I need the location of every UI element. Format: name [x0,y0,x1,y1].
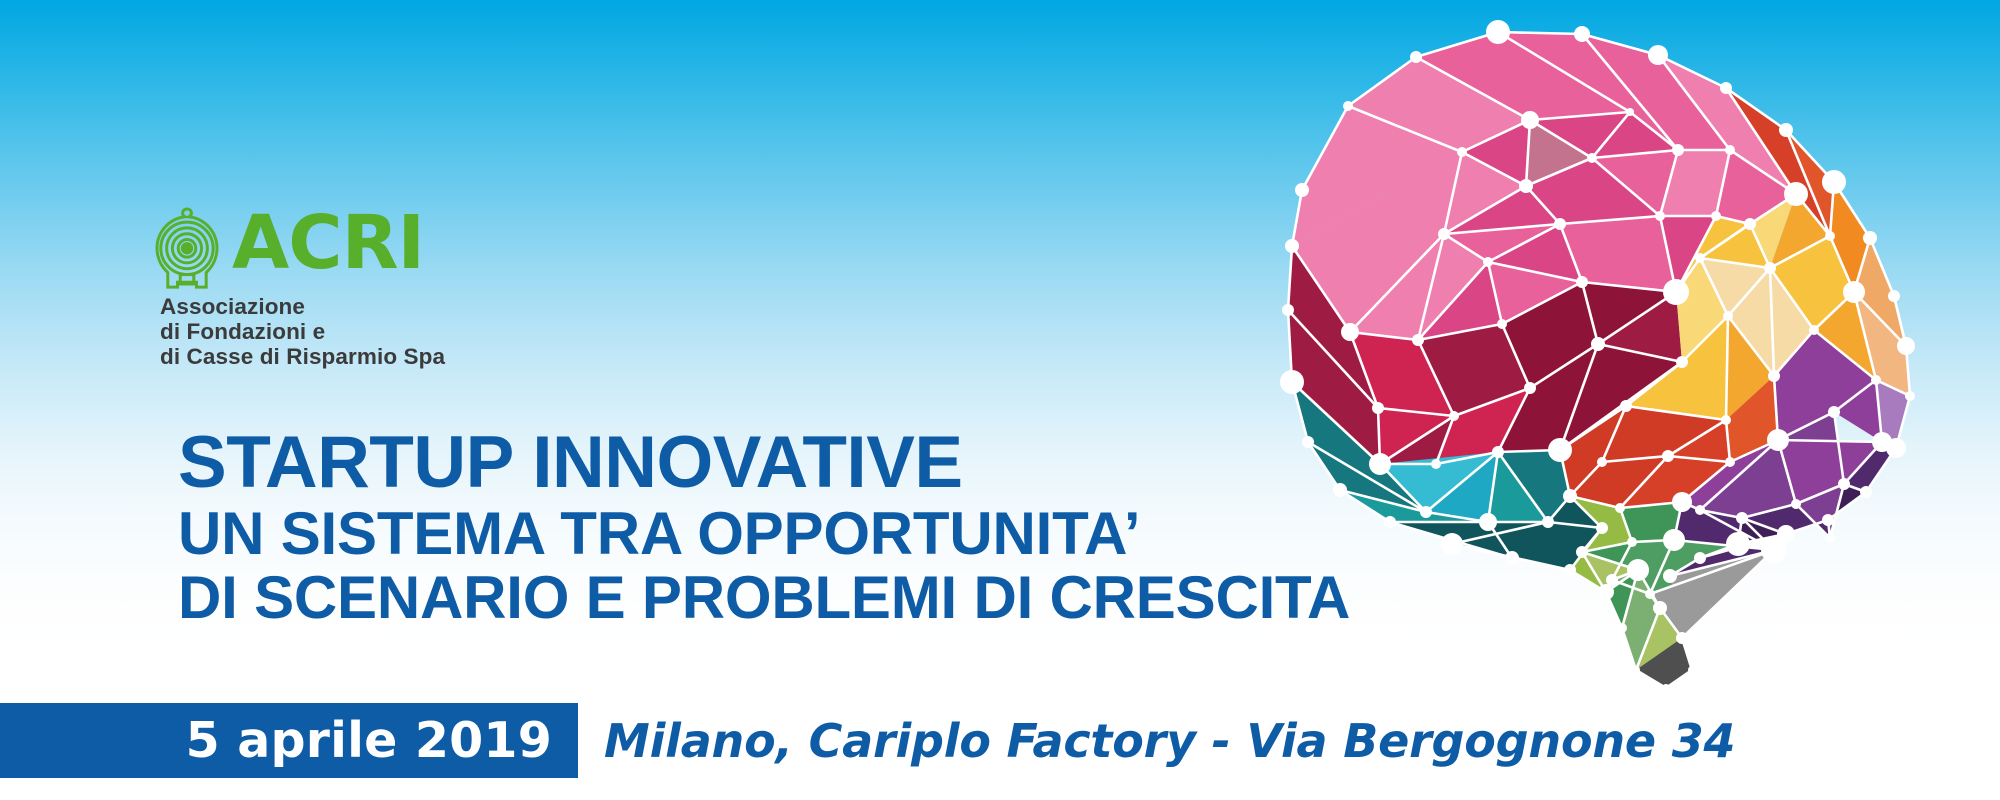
brain-edge [1452,544,1512,558]
brain-edge [1660,216,1676,292]
brain-node [1886,438,1906,458]
brain-node [1688,666,1696,674]
brain-face [1560,216,1676,292]
brain-edge [1560,344,1598,450]
brain-edge [1786,130,1830,236]
acri-concentric-rings-icon [148,200,226,298]
brain-face [1598,292,1682,362]
brain-edge [1700,544,1738,558]
brain-edge [1560,450,1570,496]
brain-edge [1348,106,1462,152]
brain-edge [1682,550,1774,638]
brain-face [1292,152,1462,332]
brain-face [1462,120,1530,186]
brain-face [1726,316,1774,420]
brain-node [1384,516,1396,528]
brain-edge [1670,558,1700,576]
brain-edge [1876,380,1910,396]
brain-edge [1742,518,1786,534]
brain-node [1591,337,1605,351]
brain-node [1764,262,1776,274]
brain-face [1622,570,1660,670]
brain-edge [1650,540,1674,594]
brain-node [1620,400,1632,412]
brain-node [1341,323,1359,341]
brain-edge [1896,396,1910,448]
brain-face [1452,496,1602,570]
brain-face [1436,388,1530,464]
brain-node [1822,170,1846,194]
brain-node [1519,179,1533,193]
brain-edge [1488,262,1582,282]
brain-face [1666,638,1692,688]
brain-face [1674,502,1774,550]
brain-face [1288,246,1378,408]
brain-node [1860,486,1872,498]
brain-face [1814,292,1876,380]
brain-face [1854,238,1906,346]
brain-node [1721,415,1731,425]
brain-edge [1650,550,1774,594]
brain-edge [1778,412,1834,440]
brain-edge [1658,55,1726,88]
brain-node [1663,569,1677,583]
brain-face [1350,332,1454,416]
brain-edge [1350,234,1444,332]
brain-node [1606,574,1618,586]
brain-edge [1796,504,1830,538]
brain-node [1863,231,1877,245]
brain-face [1620,502,1682,542]
brain-node [1598,584,1614,600]
brain-edge [1834,380,1876,412]
brain-edge [1530,344,1598,388]
brain-face [1560,406,1626,496]
brain-node [1779,123,1793,137]
brain-face [1844,442,1896,492]
brain-face [1602,406,1726,462]
brain-face [1636,638,1692,688]
brain-node [1441,533,1463,555]
brain-face [1502,282,1598,388]
brain-edge [1582,282,1598,344]
brain-edge [1682,462,1730,502]
brain-edge [1676,216,1716,292]
brain-face [1452,522,1548,558]
brain-face [1726,88,1830,236]
brain-edge [1530,112,1630,120]
brain-edge [1302,106,1348,190]
brain-edge [1292,190,1302,246]
brain-face [1348,57,1530,152]
brain-edge [1582,34,1678,150]
brain-face [1650,550,1774,638]
brain-node [1343,101,1353,111]
brain-edge [1834,412,1844,484]
brain-node [1809,325,1819,335]
brain-node [1761,537,1787,563]
brain-edge [1630,112,1678,150]
brain-edge [1444,186,1526,234]
brain-edge [1834,182,1870,238]
brain-edge [1612,570,1638,580]
brain-node [1695,253,1705,263]
brain-edge [1502,324,1530,388]
brain-node [1282,304,1294,316]
brain-node [1420,506,1432,518]
brain-face [1770,236,1854,330]
brain-face [1786,130,1834,236]
brain-face [1854,292,1910,396]
brain-edge [1498,32,1630,112]
brain-face [1570,528,1606,592]
brain-edge [1728,268,1770,316]
brain-face [1750,194,1796,268]
brain-node [1521,111,1539,129]
brain-edge [1828,492,1866,520]
brain-node [1483,257,1493,267]
brain-edge [1462,152,1526,186]
brain-node [1905,391,1915,401]
brain-edge [1592,150,1678,158]
brain-edge [1730,440,1778,462]
brain-node [1843,281,1865,303]
event-title-line-2: UN SISTEMA TRA OPPORTUNITA’ [178,503,1350,565]
brain-edge [1620,502,1682,508]
brain-edge [1416,32,1498,57]
brain-edge [1582,34,1658,55]
brain-edge [1444,224,1560,234]
brain-edge [1612,542,1632,580]
brain-edge [1854,292,1906,346]
brain-edge [1668,456,1730,462]
brain-edge [1830,236,1854,292]
brain-edge [1416,57,1530,120]
brain-edge [1676,258,1700,292]
brain-edge [1636,670,1666,688]
brain-face [1418,262,1502,340]
brain-node [1663,279,1689,305]
brain-face [1612,540,1674,594]
event-date: 5 aprile 2019 [186,715,552,767]
brain-face [1498,344,1598,452]
brain-node [1888,290,1900,302]
brain-face [1728,268,1814,376]
brain-edge [1636,608,1660,670]
brain-node [1576,276,1588,288]
brain-edge [1674,540,1774,550]
brain-edge [1700,224,1750,258]
brain-face [1380,452,1498,512]
brain-node [1587,153,1597,163]
brain-edge [1700,534,1786,558]
brain-face [1582,282,1676,344]
brain-face [1834,380,1882,442]
brain-edge [1598,344,1682,362]
brain-edge [1380,464,1426,512]
brain-node [1725,145,1735,155]
brain-edge [1390,522,1512,558]
brain-edge [1418,340,1454,416]
brain-node [1574,26,1590,42]
brain-edge [1726,420,1730,462]
acri-subtitle-line-2: di Fondazioni e [160,319,568,344]
brain-edge [1738,518,1742,544]
brain-edge [1682,638,1692,670]
brain-edge [1778,440,1796,504]
brain-face [1582,34,1730,150]
brain-edge [1774,330,1814,376]
brain-edge [1626,362,1682,406]
brain-node [1648,45,1668,65]
brain-node [1645,589,1655,599]
brain-node [1542,516,1554,528]
brain-edge [1814,330,1876,380]
brain-node [1412,334,1424,346]
brain-face [1592,150,1678,216]
brain-edge [1620,508,1632,542]
brain-node [1871,375,1881,385]
brain-edge [1844,484,1866,492]
brain-node [1457,147,1467,157]
brain-edge [1830,484,1844,538]
brain-face [1444,224,1560,262]
brain-face [1526,158,1660,224]
brain-face [1426,452,1498,522]
brain-face [1350,234,1488,340]
acri-wordmark: ACRI [232,206,424,280]
brain-node [1431,459,1441,469]
brain-edge [1378,408,1454,416]
brain-face [1606,570,1638,628]
brain-edge [1666,670,1692,688]
brain-edge [1786,130,1834,182]
brain-node [1897,337,1915,355]
brain-edge [1498,388,1530,452]
brain-node [1615,503,1625,513]
brain-node [1627,537,1637,547]
brain-node [1372,402,1384,414]
brain-face [1796,484,1844,538]
brain-face [1592,112,1678,158]
brain-node [1627,559,1649,581]
acri-logo-top-row: ACRI [148,200,568,292]
brain-face [1660,216,1716,292]
brain-edge [1738,544,1774,550]
brain-face [1582,528,1606,592]
brain-edge [1548,496,1570,522]
brain-edge [1632,540,1674,542]
brain-node [1825,533,1835,543]
brain-edge [1380,416,1454,464]
brain-edge [1876,380,1882,442]
brain-node [1524,382,1536,394]
brain-edge [1742,504,1796,518]
brain-node [1726,532,1750,556]
brain-face [1612,570,1660,608]
event-banner: ACRI Associazione di Fondazioni e di Cas… [0,0,2000,800]
brain-edge [1770,236,1830,268]
brain-edge [1726,88,1796,194]
acri-subtitle-line-1: Associazione [160,294,568,319]
brain-edge [1700,224,1750,258]
brain-face [1700,534,1786,558]
brain-edge [1340,490,1426,512]
brain-edge [1582,552,1638,570]
brain-face [1660,150,1730,216]
brain-node [1655,211,1665,221]
brain-edge [1830,182,1834,236]
brain-edge [1726,316,1728,420]
brain-face [1700,440,1796,518]
brain-edge [1626,362,1682,406]
brain-edge [1786,520,1828,534]
brain-edge [1582,542,1632,552]
brain-edge [1650,594,1660,608]
brain-node [1295,183,1309,197]
brain-edge [1894,296,1906,346]
brain-edge [1674,502,1682,540]
brain-edge [1602,456,1668,462]
brain-edge [1814,292,1854,330]
brain-face [1418,324,1530,416]
brain-edge [1488,522,1512,558]
brain-edge [1700,510,1742,518]
brain-node [1828,406,1840,418]
event-date-band: 5 aprile 2019 [0,703,578,778]
brain-edge [1530,120,1592,158]
brain-edge [1526,186,1560,224]
brain-edge [1526,120,1530,186]
brain-edge [1488,452,1498,522]
brain-edge [1638,570,1660,608]
brain-node [1632,666,1640,674]
brain-edge [1350,332,1418,340]
brain-node [1694,552,1706,564]
brain-node [1280,370,1304,394]
brain-edge [1682,502,1700,510]
brain-face [1778,440,1882,504]
brain-edge [1436,452,1498,464]
brain-node [1492,446,1504,458]
acri-subtitle: Associazione di Fondazioni e di Casse di… [160,294,568,369]
event-venue: Milano, Cariplo Factory - Via Bergognone… [604,703,1735,778]
brain-edge [1582,552,1606,592]
brain-edge [1582,528,1602,552]
brain-edge [1796,484,1844,504]
brain-node [1872,432,1892,452]
brain-edge [1770,268,1814,330]
brain-face [1526,120,1592,186]
acri-subtitle-line-3: di Casse di Risparmio Spa [160,344,568,369]
brain-node [1548,438,1572,462]
brain-face [1560,344,1682,450]
brain-edge [1598,292,1676,344]
brain-edge [1660,150,1678,216]
brain-edge [1560,224,1582,282]
brain-edge [1668,420,1726,456]
brain-edge [1454,388,1530,416]
brain-node [1438,228,1450,240]
brain-face [1488,452,1548,522]
brain-node [1597,457,1607,467]
brain-face [1620,456,1730,508]
brain-polygon-faces [1288,32,1910,688]
brain-edge [1700,258,1728,316]
brain-edge [1570,496,1620,508]
brain-face [1626,316,1728,420]
brain-node [1653,601,1667,615]
brain-edge [1418,262,1488,340]
brain-edge [1730,150,1796,194]
brain-node [1449,411,1459,421]
brain-node [1672,492,1692,512]
brain-node [1596,522,1608,534]
brain-edge [1774,376,1778,440]
brain-edge [1844,442,1882,484]
brain-edge [1592,158,1660,216]
brain-edge [1350,332,1378,408]
brain-face [1636,608,1682,688]
brain-node [1767,429,1789,451]
brain-face [1700,224,1770,268]
brain-edge [1444,152,1462,234]
brain-node [1563,489,1577,503]
brain-edge [1728,316,1774,376]
brain-edge [1620,456,1668,508]
acri-logo: ACRI Associazione di Fondazioni e di Cas… [148,200,568,369]
brain-face [1770,194,1830,268]
brain-edge [1700,440,1778,510]
brain-node [1777,525,1795,543]
brain-node [1822,514,1834,526]
brain-face [1682,440,1778,510]
brain-edge [1436,416,1454,464]
brain-edge [1378,408,1380,464]
brain-face [1498,450,1570,522]
brain-edge [1750,194,1796,224]
brain-edge [1870,238,1894,296]
brain-edge [1670,550,1774,576]
brain-edge [1796,194,1830,236]
brain-edge [1462,120,1530,152]
brain-face [1444,186,1560,234]
brain-edge [1742,518,1774,550]
brain-face [1742,504,1830,538]
brain-node [1662,684,1670,692]
brain-node [1410,51,1422,63]
brain-edge [1418,324,1502,340]
brain-edge [1738,534,1786,544]
brain-node [1791,499,1801,509]
brain-node [1725,457,1735,467]
brain-face [1650,540,1774,594]
brain-edge [1660,608,1682,638]
event-title-line-1: STARTUP INNOVATIVE [178,425,1350,501]
brain-face [1390,522,1512,558]
brain-face [1488,262,1582,324]
brain-edge [1622,628,1636,670]
brain-face [1582,542,1638,580]
brain-face [1378,408,1454,464]
brain-node [1369,453,1391,475]
brain-face [1716,150,1796,224]
brain-edge [1526,158,1592,186]
brain-face [1670,550,1774,638]
brain-edge [1444,234,1488,262]
brain-edge [1570,462,1602,496]
brain-edge [1700,510,1774,550]
